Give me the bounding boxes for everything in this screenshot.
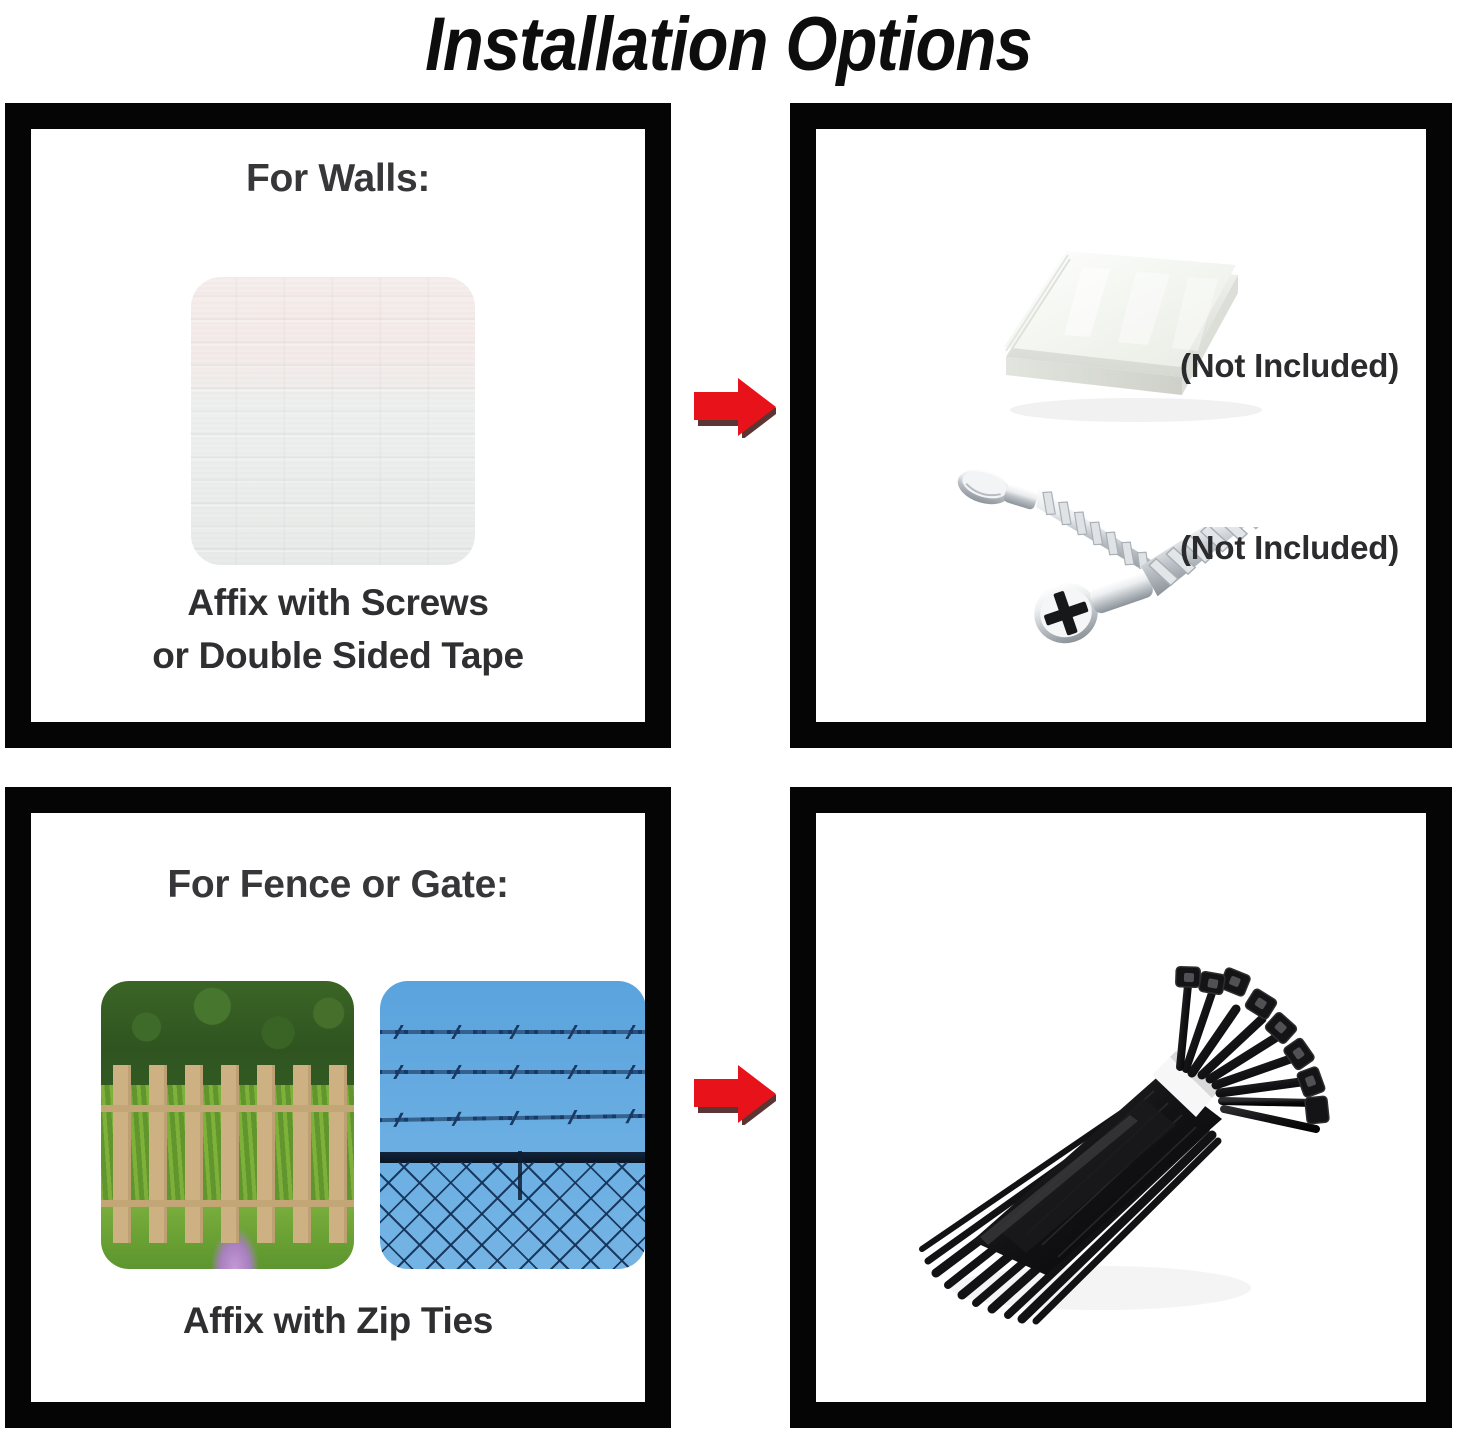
heading-for-fence-or-gate: For Fence or Gate: (31, 863, 645, 907)
chain-link-fence-image (380, 981, 645, 1269)
wall-image (191, 277, 475, 565)
panel-for-fence-content: For Fence or Gate: Affix with Zip Ties (31, 813, 645, 1402)
right-arrow-icon (690, 1065, 776, 1125)
panel-zip-ties: (Not Included) (790, 787, 1452, 1428)
heading-for-walls: For Walls: (31, 157, 645, 201)
double-sided-tape-image (986, 245, 1286, 430)
right-arrow-icon (690, 378, 776, 438)
page-title: Installation Options (87, 2, 1369, 88)
panel-for-fence-or-gate: For Fence or Gate: Affix with Zip Ties (5, 787, 671, 1428)
caption-line-2: or Double Sided Tape (31, 629, 645, 682)
panel-hardware: (Not Included) (790, 103, 1452, 748)
panel-for-walls: For Walls: Affix with Screws or Double S… (5, 103, 671, 748)
panel-for-walls-content: For Walls: Affix with Screws or Double S… (31, 129, 645, 722)
panel-hardware-content: (Not Included) (816, 129, 1426, 722)
caption-for-fence: Affix with Zip Ties (31, 1294, 645, 1347)
panel-zip-ties-content: (Not Included) (816, 813, 1426, 1402)
caption-line-1: Affix with Screws (31, 576, 645, 629)
zip-ties-image (876, 923, 1346, 1343)
wooden-fence-image (101, 981, 354, 1269)
caption-for-walls: Affix with Screws or Double Sided Tape (31, 576, 645, 682)
tape-not-included-label: (Not Included) (1180, 347, 1399, 385)
screws-not-included-label: (Not Included) (1180, 529, 1399, 567)
